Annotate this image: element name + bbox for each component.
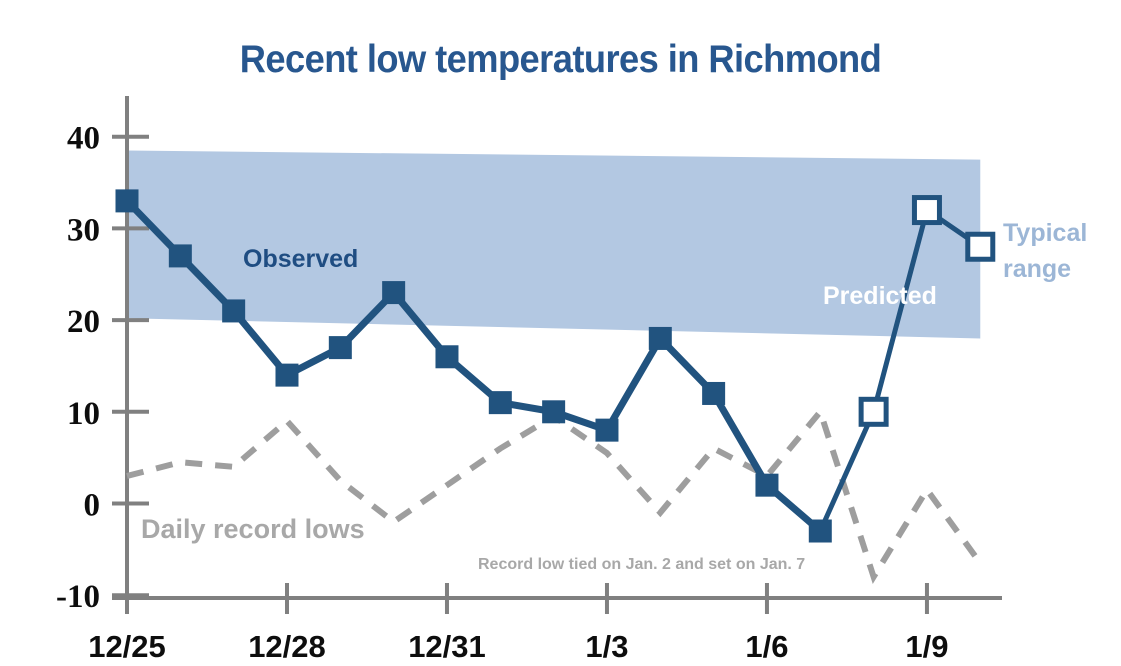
observed-data-point (329, 336, 352, 359)
observed-data-point (222, 299, 245, 322)
observed-data-point (649, 327, 672, 350)
y-axis-tick-label: 30 (67, 212, 100, 248)
observed-data-point (489, 391, 512, 414)
daily-record-lows-line (127, 412, 980, 577)
x-axis-tick-label: 1/9 (905, 629, 948, 664)
y-axis-tick-labels: 403020100-10 (56, 121, 100, 616)
chart-plot-area: 403020100-10 12/2512/2812/311/31/61/9 Ob… (0, 0, 1121, 666)
x-axis-tick-label: 12/28 (248, 629, 326, 664)
observed-data-point (435, 345, 458, 368)
predicted-label: Predicted (823, 282, 937, 310)
observed-data-point (755, 474, 778, 497)
x-axis-tick-label: 1/6 (745, 629, 788, 664)
predicted-data-point (968, 234, 993, 259)
chart-root: Recent low temperatures in Richmond 4030… (0, 0, 1121, 666)
observed-data-point (809, 520, 832, 543)
x-axis-tick-label: 12/25 (88, 629, 166, 664)
x-axis-tick-labels: 12/2512/2812/311/31/61/9 (88, 629, 948, 664)
x-axis-tick-label: 12/31 (408, 629, 486, 664)
observed-data-point (595, 419, 618, 442)
y-axis-tick-label: -10 (56, 579, 100, 615)
observed-data-point (702, 382, 725, 405)
observed-data-point (542, 400, 565, 423)
x-axis-tick-label: 1/3 (585, 629, 628, 664)
record-note-label: Record low tied on Jan. 2 and set on Jan… (478, 556, 805, 573)
observed-data-point (116, 189, 139, 212)
predicted-data-point (861, 399, 886, 424)
observed-data-point (275, 364, 298, 387)
y-axis-tick-label: 0 (84, 488, 101, 524)
observed-label: Observed (243, 245, 358, 273)
y-axis-tick-label: 40 (67, 121, 100, 157)
y-axis-tick-label: 10 (67, 396, 100, 432)
y-axis-tick-label: 20 (67, 304, 100, 340)
typical-range-label-line1: Typical (1003, 219, 1087, 247)
typical-range-label-line2: range (1003, 255, 1071, 283)
observed-data-point (169, 244, 192, 267)
predicted-data-point (914, 198, 939, 223)
daily-record-lows-label: Daily record lows (141, 514, 365, 544)
observed-data-point (382, 281, 405, 304)
